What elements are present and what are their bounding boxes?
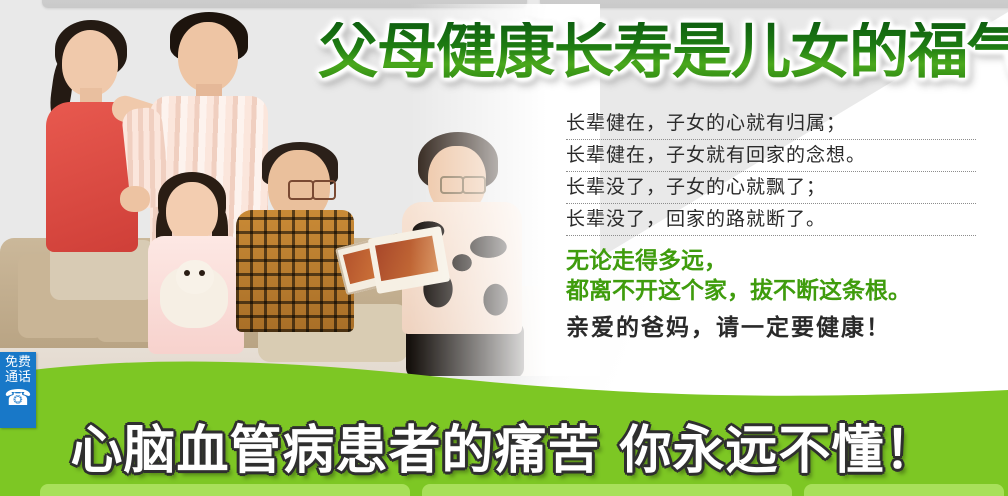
grandfather-glasses-lens	[288, 180, 314, 200]
father-hand	[120, 186, 150, 212]
poem-block: 长辈健在，子女的心就有归属； 长辈健在，子女就有回家的念想。 长辈没了，子女的心…	[566, 108, 976, 236]
health-promo-banner: 父母健康长寿是儿女的福气 长辈健在，子女的心就有归属； 长辈健在，子女就有回家的…	[0, 0, 1008, 496]
bottom-tab[interactable]	[40, 484, 410, 496]
free-call-label-line1: 免费	[5, 355, 31, 370]
page-title: 父母健康长寿是儿女的福气	[318, 22, 1008, 82]
grandfather-plaid-shirt	[236, 210, 354, 332]
father-face	[178, 22, 238, 92]
slogan-green-line-1: 无论走得多远，	[566, 246, 986, 276]
poem-line: 长辈没了，子女的心就飘了；	[566, 172, 976, 204]
poem-line: 长辈健在，子女的心就有归属；	[566, 108, 976, 140]
poem-line: 长辈健在，子女就有回家的念想。	[566, 140, 976, 172]
mother-face	[62, 30, 118, 96]
bottom-tab[interactable]	[422, 484, 792, 496]
teddy-bear-eye	[199, 270, 205, 276]
free-call-label-line2: 通话	[5, 370, 31, 385]
grandfather-glasses-lens	[312, 180, 336, 200]
telephone-icon[interactable]: ☎	[4, 387, 31, 411]
top-tab[interactable]	[540, 0, 1008, 8]
poem-line: 长辈没了，回家的路就断了。	[566, 204, 976, 236]
bottom-tab[interactable]	[804, 484, 1004, 496]
girl-face	[166, 182, 218, 242]
bottom-headline: 心脑血管病患者的痛苦 你永远不懂！	[0, 418, 1008, 484]
teddy-bear-head	[176, 260, 214, 294]
slogan-green-line-2: 都离不开这个家，拔不断这条根。	[566, 276, 986, 306]
teddy-bear-eye	[184, 270, 190, 276]
free-call-widget[interactable]: 免费 通话 ☎	[0, 352, 36, 428]
bottom-tabs-cutoff	[0, 482, 1008, 496]
slogan-block: 无论走得多远， 都离不开这个家，拔不断这条根。 亲爱的爸妈，请一定要健康！	[566, 246, 986, 344]
